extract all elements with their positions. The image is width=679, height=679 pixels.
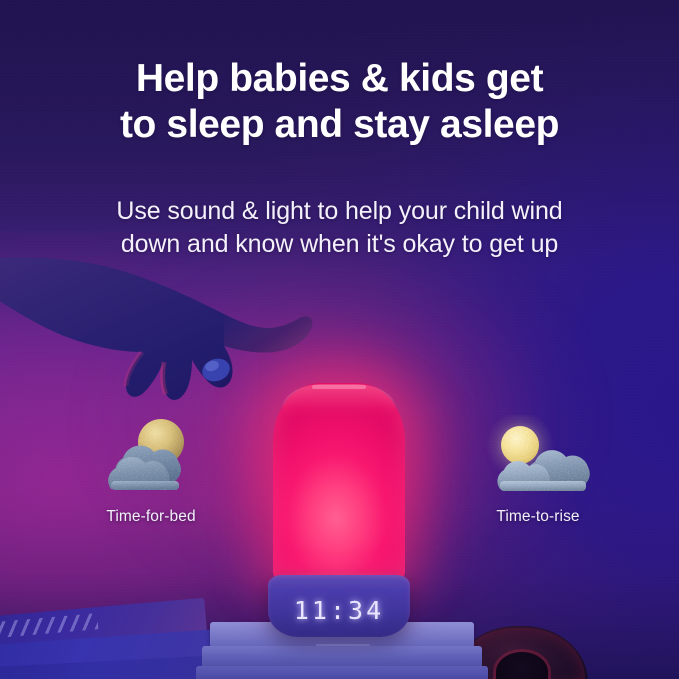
- headline-line-2: to sleep and stay asleep: [0, 102, 679, 148]
- book-cover-pattern: [0, 613, 98, 639]
- feature-time-for-bed: Time-for-bed: [56, 412, 246, 526]
- sun-behind-cloud-icon: [443, 412, 633, 504]
- clock-display: 11:34: [268, 596, 410, 625]
- nightlight-device[interactable]: 11:34: [268, 383, 410, 628]
- page-title: Help babies & kids get to sleep and stay…: [0, 56, 679, 147]
- nightlight-dome-highlight: [282, 384, 396, 418]
- page-subtitle: Use sound & light to help your child win…: [0, 195, 679, 261]
- feature-label-time-to-rise: Time-to-rise: [443, 508, 633, 526]
- subheadline-line-2: down and know when it's okay to get up: [0, 228, 679, 261]
- promo-image: 11:34 Help babies & kids get to sleep an…: [0, 0, 679, 679]
- feature-time-to-rise: Time-to-rise: [443, 412, 633, 526]
- feature-label-time-for-bed: Time-for-bed: [56, 508, 246, 526]
- moon-behind-cloud-icon: [56, 412, 246, 504]
- clock-time: 11:34: [294, 596, 384, 625]
- book-item: [196, 666, 488, 679]
- headline-line-1: Help babies & kids get: [136, 57, 543, 100]
- nightlight-top-seam: [312, 385, 366, 389]
- subheadline-line-1: Use sound & light to help your child win…: [116, 197, 562, 225]
